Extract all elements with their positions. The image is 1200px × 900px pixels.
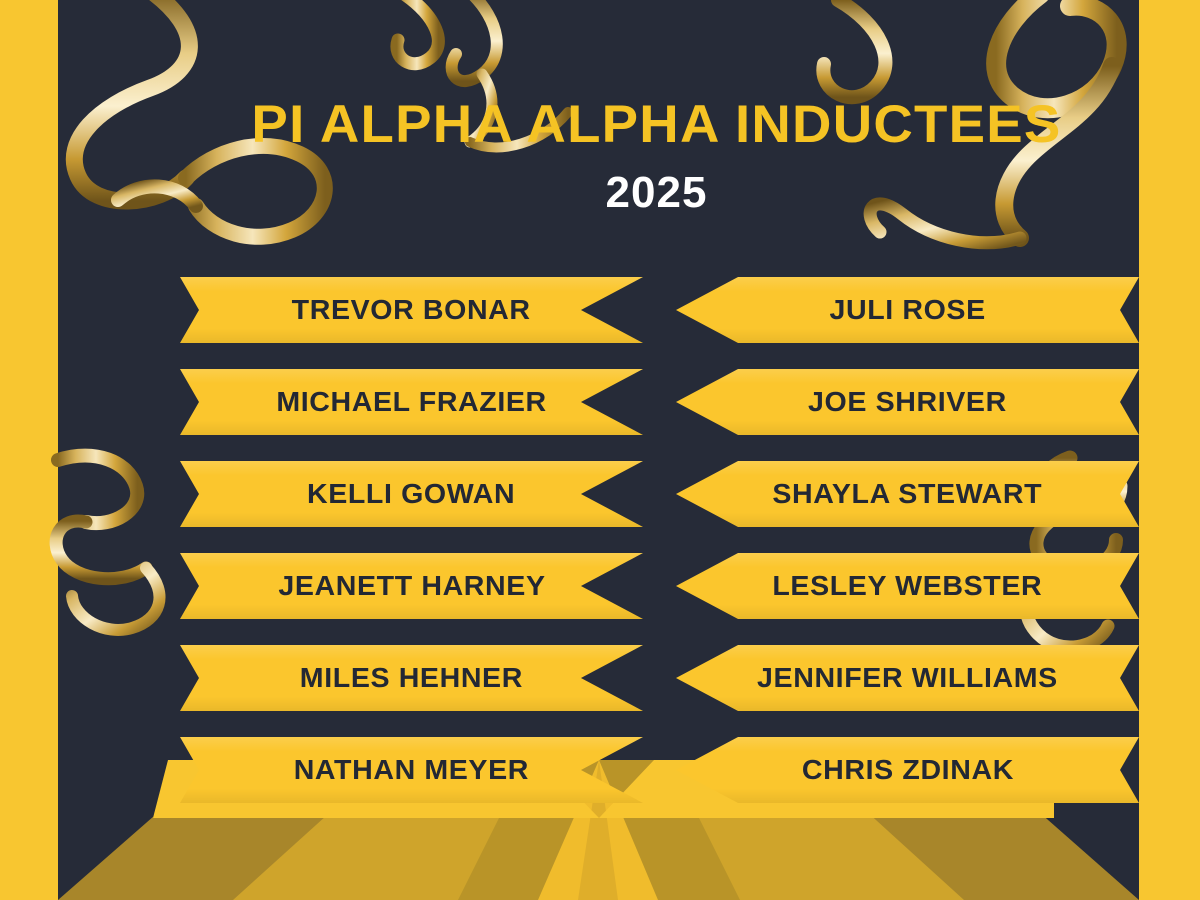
- inductee-name: MILES HEHNER: [300, 662, 523, 694]
- inductee-name: MICHAEL FRAZIER: [276, 386, 546, 418]
- inductee-row: KELLI GOWAN SHAYLA STEWART: [116, 461, 1139, 527]
- inductee-banner-right[interactable]: LESLEY WEBSTER: [676, 553, 1139, 619]
- inductee-banner-left[interactable]: MICHAEL FRAZIER: [180, 369, 643, 435]
- inductee-name: NATHAN MEYER: [294, 754, 529, 786]
- poster-stage: PI ALPHA ALPHA INDUCTEES 2025 TREVOR BON…: [58, 0, 1139, 900]
- inductee-banner-left[interactable]: JEANETT HARNEY: [180, 553, 643, 619]
- inductee-poster: PI ALPHA ALPHA INDUCTEES 2025 TREVOR BON…: [0, 0, 1200, 900]
- inductee-banner-left[interactable]: MILES HEHNER: [180, 645, 643, 711]
- inductee-name: SHAYLA STEWART: [773, 478, 1043, 510]
- inductee-name: KELLI GOWAN: [307, 478, 515, 510]
- inductee-banner-right[interactable]: CHRIS ZDINAK: [676, 737, 1139, 803]
- inductee-name: JULI ROSE: [829, 294, 985, 326]
- page-title: PI ALPHA ALPHA INDUCTEES: [100, 96, 1139, 153]
- inductee-list: TREVOR BONAR JULI ROSE MICHAEL FRAZIER J…: [116, 277, 1139, 803]
- inductee-name: LESLEY WEBSTER: [773, 570, 1043, 602]
- poster-heading: PI ALPHA ALPHA INDUCTEES 2025: [116, 96, 1139, 218]
- inductee-name: JENNIFER WILLIAMS: [757, 662, 1058, 694]
- inductee-row: TREVOR BONAR JULI ROSE: [116, 277, 1139, 343]
- inductee-banner-right[interactable]: SHAYLA STEWART: [676, 461, 1139, 527]
- inductee-name: TREVOR BONAR: [292, 294, 531, 326]
- inductee-name: JOE SHRIVER: [808, 386, 1007, 418]
- inductee-banner-right[interactable]: JOE SHRIVER: [676, 369, 1139, 435]
- inductee-row: MILES HEHNER JENNIFER WILLIAMS: [116, 645, 1139, 711]
- inductee-banner-right[interactable]: JULI ROSE: [676, 277, 1139, 343]
- inductee-banner-left[interactable]: TREVOR BONAR: [180, 277, 643, 343]
- page-year: 2025: [116, 169, 1139, 217]
- inductee-row: MICHAEL FRAZIER JOE SHRIVER: [116, 369, 1139, 435]
- inductee-name: JEANETT HARNEY: [278, 570, 545, 602]
- inductee-banner-left[interactable]: NATHAN MEYER: [180, 737, 643, 803]
- inductee-row: NATHAN MEYER CHRIS ZDINAK: [116, 737, 1139, 803]
- inductee-row: JEANETT HARNEY LESLEY WEBSTER: [116, 553, 1139, 619]
- inductee-banner-right[interactable]: JENNIFER WILLIAMS: [676, 645, 1139, 711]
- inductee-banner-left[interactable]: KELLI GOWAN: [180, 461, 643, 527]
- inductee-name: CHRIS ZDINAK: [801, 754, 1013, 786]
